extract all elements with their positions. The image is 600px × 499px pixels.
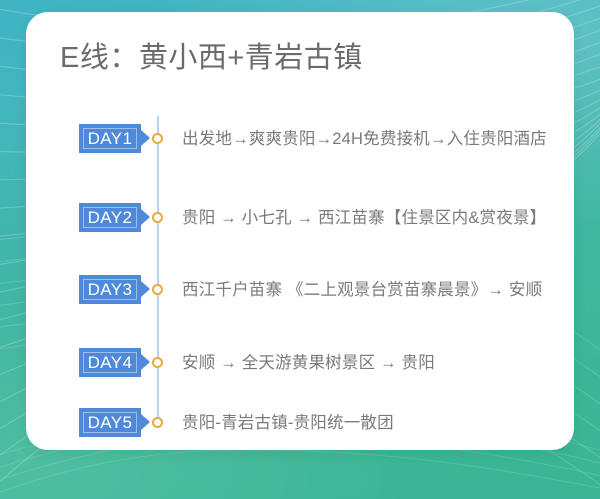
day-badge-label: DAY3	[88, 281, 133, 298]
itinerary-row[interactable]: DAY5 贵阳-青岩古镇-贵阳统一散团	[26, 408, 574, 438]
badge-arrow-icon	[141, 414, 150, 430]
itinerary-row[interactable]: DAY1 出发地→爽爽贵阳→24H免费接机→入住贵阳酒店	[26, 124, 574, 154]
day-badge[interactable]: DAY4	[79, 348, 141, 377]
timeline-rail	[157, 116, 159, 426]
badge-arrow-icon	[141, 130, 150, 146]
timeline-dot-icon	[152, 212, 163, 223]
itinerary-text: 出发地→爽爽贵阳→24H免费接机→入住贵阳酒店	[182, 126, 547, 152]
itinerary-text: 贵阳 → 小七孔 → 西江苗寨【住景区内&赏夜景】	[182, 205, 546, 231]
day-badge-label: DAY2	[88, 209, 133, 226]
itinerary-poster: E线：黄小西+青岩古镇 DAY1 出发地→爽爽贵阳→24H免费接机→入住贵阳酒店…	[0, 0, 600, 499]
itinerary-row[interactable]: DAY3 西江千户苗寨 《二上观景台赏苗寨晨景》→ 安顺	[26, 275, 574, 305]
day-badge[interactable]: DAY5	[79, 408, 141, 437]
itinerary-text: 西江千户苗寨 《二上观景台赏苗寨晨景》→ 安顺	[182, 277, 542, 303]
day-badge[interactable]: DAY2	[79, 203, 141, 232]
badge-arrow-icon	[141, 354, 150, 370]
itinerary-row[interactable]: DAY4 安顺 → 全天游黄果树景区 → 贵阳	[26, 348, 574, 378]
badge-arrow-icon	[141, 281, 150, 297]
page-title: E线：黄小西+青岩古镇	[60, 40, 363, 76]
itinerary-text: 安顺 → 全天游黄果树景区 → 贵阳	[182, 350, 435, 376]
timeline-dot-icon	[152, 133, 163, 144]
day-badge[interactable]: DAY1	[79, 124, 141, 153]
day-badge-label: DAY1	[88, 130, 133, 147]
day-badge[interactable]: DAY3	[79, 275, 141, 304]
itinerary-text: 贵阳-青岩古镇-贵阳统一散团	[182, 410, 394, 436]
timeline-dot-icon	[152, 284, 163, 295]
badge-arrow-icon	[141, 209, 150, 225]
itinerary-card: E线：黄小西+青岩古镇 DAY1 出发地→爽爽贵阳→24H免费接机→入住贵阳酒店…	[26, 12, 574, 450]
timeline-dot-icon	[152, 417, 163, 428]
itinerary-row[interactable]: DAY2 贵阳 → 小七孔 → 西江苗寨【住景区内&赏夜景】	[26, 203, 574, 233]
day-badge-label: DAY4	[88, 354, 133, 371]
timeline-dot-icon	[152, 357, 163, 368]
day-badge-label: DAY5	[88, 414, 133, 431]
